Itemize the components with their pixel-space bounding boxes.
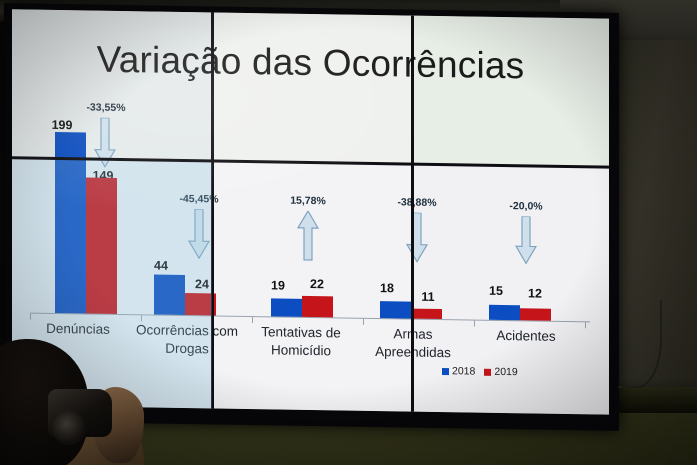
legend-item-2018: 2018 — [442, 365, 475, 378]
bar-2018-drogas — [154, 274, 185, 314]
presentation-slide: Variação das Ocorrências -33,55% — [12, 9, 609, 414]
bar-2018-denuncias — [55, 132, 86, 313]
category-label-homicidio: Tentativas de Homicídio — [245, 323, 357, 360]
legend-swatch-icon — [484, 368, 491, 375]
video-wall-bezel: Variação das Ocorrências -33,55% — [4, 3, 619, 431]
bar-group-homicidio: 15,78% 19 22 — [258, 96, 358, 318]
category-label-line2: Drogas — [129, 339, 245, 359]
category-label-drogas: Ocorrências com Drogas — [129, 321, 245, 358]
bar-group-denuncias: -33,55% 199 149 — [36, 92, 136, 314]
category-label-denuncias: Denúncias — [24, 319, 132, 339]
arrow-down-icon — [188, 209, 210, 259]
bar-2019-acidentes — [520, 308, 551, 320]
category-label-acidentes: Acidentes — [470, 326, 582, 346]
arrow-down-icon — [406, 212, 428, 262]
variation-label-denuncias: -33,55% — [74, 101, 138, 114]
category-label-line1: Tentativas de — [245, 323, 357, 343]
variation-label-acidentes: -20,0% — [494, 199, 558, 212]
bar-value-2019-acidentes: 12 — [512, 286, 558, 301]
category-label-line1: Ocorrências com — [129, 321, 245, 341]
bar-value-2019-homicidio: 22 — [294, 276, 340, 291]
category-label-line1: Armas — [357, 325, 469, 345]
bar-value-2018-armas: 18 — [365, 280, 409, 295]
bar-value-2018-denuncias: 199 — [40, 117, 84, 132]
bar-2018-homicidio — [271, 298, 302, 316]
bar-2018-armas — [380, 301, 411, 318]
bar-2019-armas — [411, 308, 442, 318]
bar-2019-drogas — [185, 293, 216, 315]
bar-value-2018-drogas: 44 — [139, 258, 183, 273]
arrow-up-icon — [297, 210, 319, 260]
video-wall-screen: Variação das Ocorrências -33,55% — [12, 9, 609, 414]
legend-label-2018: 2018 — [452, 365, 475, 377]
category-label-line2: Homicídio — [245, 341, 357, 361]
category-label-armas: Armas Apreendidas — [357, 325, 469, 362]
bar-2019-homicidio — [302, 295, 333, 316]
chart-plot-area: -33,55% 199 149 — [30, 94, 590, 323]
arrow-down-icon — [515, 216, 537, 264]
axis-tick — [585, 322, 586, 328]
chart-legend: 2018 2019 — [442, 365, 518, 378]
category-label-line1: Denúncias — [24, 319, 132, 339]
bar-group-armas: -38,88% 18 11 — [369, 98, 469, 320]
chart-title: Variação das Ocorrências — [12, 37, 609, 88]
screenshot-root: Variação das Ocorrências -33,55% — [0, 0, 697, 465]
bar-2018-acidentes — [489, 304, 520, 319]
bar-2019-denuncias — [86, 177, 117, 313]
variation-label-homicidio: 15,78% — [276, 194, 340, 207]
category-label-line1: Acidentes — [470, 326, 582, 346]
legend-label-2019: 2019 — [494, 366, 517, 378]
legend-swatch-icon — [442, 368, 449, 375]
bar-group-acidentes: -20,0% 15 12 — [480, 99, 580, 321]
category-label-line2: Apreendidas — [357, 343, 469, 363]
variation-label-drogas: -45,45% — [167, 192, 231, 205]
legend-item-2019: 2019 — [484, 366, 517, 379]
camera-lens — [52, 411, 86, 445]
variation-label-armas: -38,88% — [385, 196, 449, 209]
bar-group-drogas: -45,45% 44 24 — [147, 94, 247, 316]
